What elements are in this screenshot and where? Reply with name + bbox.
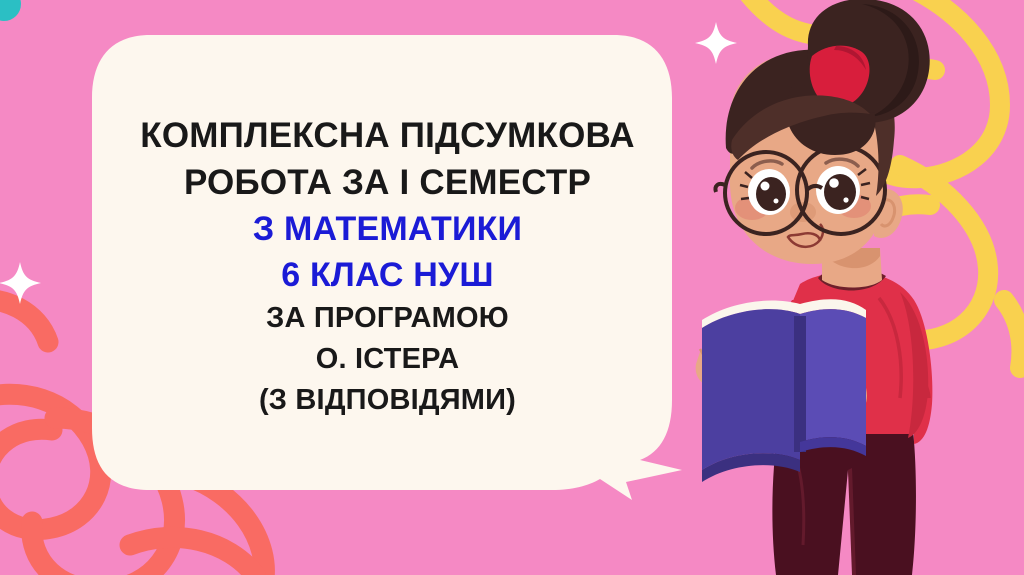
slide-canvas: КОМПЛЕКСНА ПІДСУМКОВА РОБОТА ЗА І СЕМЕСТ… [0, 0, 1024, 575]
sparkle-icon-left [0, 262, 41, 304]
sparkles [0, 0, 1024, 575]
sparkle-icon-top-right [695, 22, 737, 64]
